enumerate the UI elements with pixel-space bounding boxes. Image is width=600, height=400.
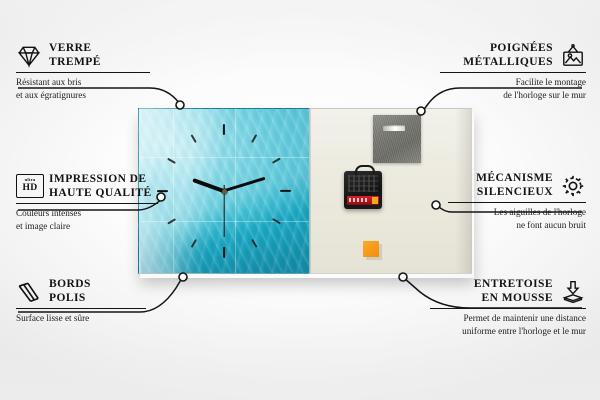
connector-node-poignees	[417, 107, 425, 115]
callout-subtitle: Résistant aux bris et aux égratignures	[16, 76, 156, 100]
callout-title: BORDS POLIS	[49, 278, 91, 305]
gear-icon	[560, 173, 586, 199]
callout-rule	[430, 308, 586, 309]
polished-edge-icon	[16, 279, 42, 305]
callout-title: MÉCANISME SILENCIEUX	[476, 172, 553, 199]
callout-title: ENTRETOISE EN MOUSSE	[474, 278, 553, 305]
callout-subtitle: Couleurs intenses et image claire	[16, 207, 164, 231]
connector-node-bords-polis	[179, 273, 187, 281]
connector-node-entretoise	[399, 273, 407, 281]
callout-subtitle: Les aiguilles de l'horloge ne font aucun…	[442, 206, 586, 230]
ultra-hd-icon-bottom: HD	[23, 183, 38, 193]
callout-rule	[16, 72, 150, 73]
foam-spacer-icon	[560, 279, 586, 305]
callout-entretoise-en-mousse[interactable]: ENTRETOISE EN MOUSSE Permet de maintenir…	[424, 278, 586, 337]
callout-bords-polis[interactable]: BORDS POLIS Surface lisse et sûre	[16, 278, 152, 325]
diamond-icon	[16, 43, 42, 69]
infographic-canvas: VERRE TREMPÉ Résistant aux bris et aux é…	[0, 0, 600, 400]
callout-poignees-metalliques[interactable]: POIGNÉES MÉTALLIQUES Facilite le montage…	[434, 42, 586, 101]
callout-title: IMPRESSION DE HAUTE QUALITÉ	[49, 173, 152, 200]
ultra-hd-icon: ultra HD	[16, 174, 42, 200]
hanging-picture-icon	[560, 43, 586, 69]
connector-node-verre-trempe	[176, 101, 184, 109]
callout-rule	[16, 308, 146, 309]
callout-subtitle: Facilite le montage de l'horloge sur le …	[434, 76, 586, 100]
callout-subtitle: Permet de maintenir une distance uniform…	[424, 312, 586, 336]
callout-mecanisme-silencieux[interactable]: MÉCANISME SILENCIEUX Les aiguilles de l'…	[442, 172, 586, 231]
callout-subtitle: Surface lisse et sûre	[16, 312, 152, 324]
callout-rule	[440, 72, 586, 73]
callout-verre-trempe[interactable]: VERRE TREMPÉ Résistant aux bris et aux é…	[16, 42, 156, 101]
callout-title: POIGNÉES MÉTALLIQUES	[463, 42, 553, 69]
callout-title: VERRE TREMPÉ	[49, 42, 101, 69]
callout-impression-haute-qualite[interactable]: ultra HD IMPRESSION DE HAUTE QUALITÉ Cou…	[16, 173, 164, 232]
callout-rule	[448, 202, 586, 203]
callout-rule	[16, 203, 158, 204]
connector-node-mecanisme	[432, 201, 440, 209]
